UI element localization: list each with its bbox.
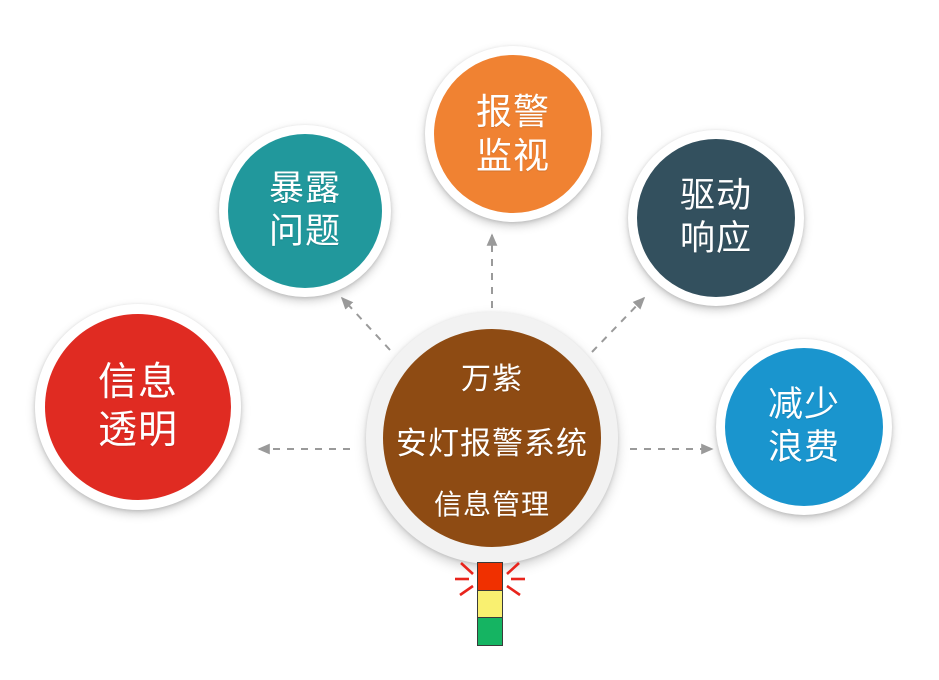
andon-light-icon — [455, 556, 525, 652]
node-alarm-monitor-line-1: 报警 — [476, 90, 550, 134]
center-hub-node[interactable]: 万紫 安灯报警系统 信息管理 — [366, 312, 618, 564]
center-hub-line-1: 万紫 — [461, 354, 523, 398]
arrow-to-drive-response — [592, 298, 644, 352]
node-reduce-waste[interactable]: 减少 浪费 — [716, 339, 892, 515]
node-drive-response-line-1: 驱动 — [680, 175, 752, 218]
node-alarm-monitor[interactable]: 报警 监视 — [425, 46, 601, 222]
node-info-transparent-line-1: 信息 — [98, 359, 178, 407]
node-info-transparent-line-2: 透明 — [98, 407, 178, 455]
node-info-transparent-disc: 信息 透明 — [45, 314, 231, 500]
center-hub-line-3: 信息管理 — [434, 483, 550, 523]
arrow-to-expose-problem — [342, 298, 390, 350]
andon-segment-red — [478, 563, 502, 591]
node-alarm-monitor-line-2: 监视 — [476, 134, 550, 178]
node-reduce-waste-disc: 减少 浪费 — [725, 348, 883, 506]
node-expose-problem-disc: 暴露 问题 — [228, 134, 382, 288]
node-reduce-waste-line-1: 减少 — [768, 384, 840, 427]
node-alarm-monitor-disc: 报警 监视 — [434, 55, 592, 213]
node-expose-problem[interactable]: 暴露 问题 — [219, 125, 391, 297]
andon-segment-yellow — [478, 591, 502, 619]
center-hub-line-2: 安灯报警系统 — [396, 418, 588, 463]
andon-tower — [477, 562, 503, 646]
diagram-canvas: 万紫 安灯报警系统 信息管理 报警 监视 暴露 问题 驱动 响应 信息 透明 — [0, 0, 939, 680]
node-drive-response[interactable]: 驱动 响应 — [628, 130, 804, 306]
center-hub-disc: 万紫 安灯报警系统 信息管理 — [383, 329, 601, 547]
node-expose-problem-line-1: 暴露 — [269, 168, 341, 211]
andon-segment-green — [478, 618, 502, 645]
node-drive-response-disc: 驱动 响应 — [637, 139, 795, 297]
node-drive-response-line-2: 响应 — [680, 218, 752, 261]
node-info-transparent[interactable]: 信息 透明 — [35, 304, 241, 510]
node-expose-problem-line-2: 问题 — [269, 211, 341, 254]
node-reduce-waste-line-2: 浪费 — [768, 427, 840, 470]
